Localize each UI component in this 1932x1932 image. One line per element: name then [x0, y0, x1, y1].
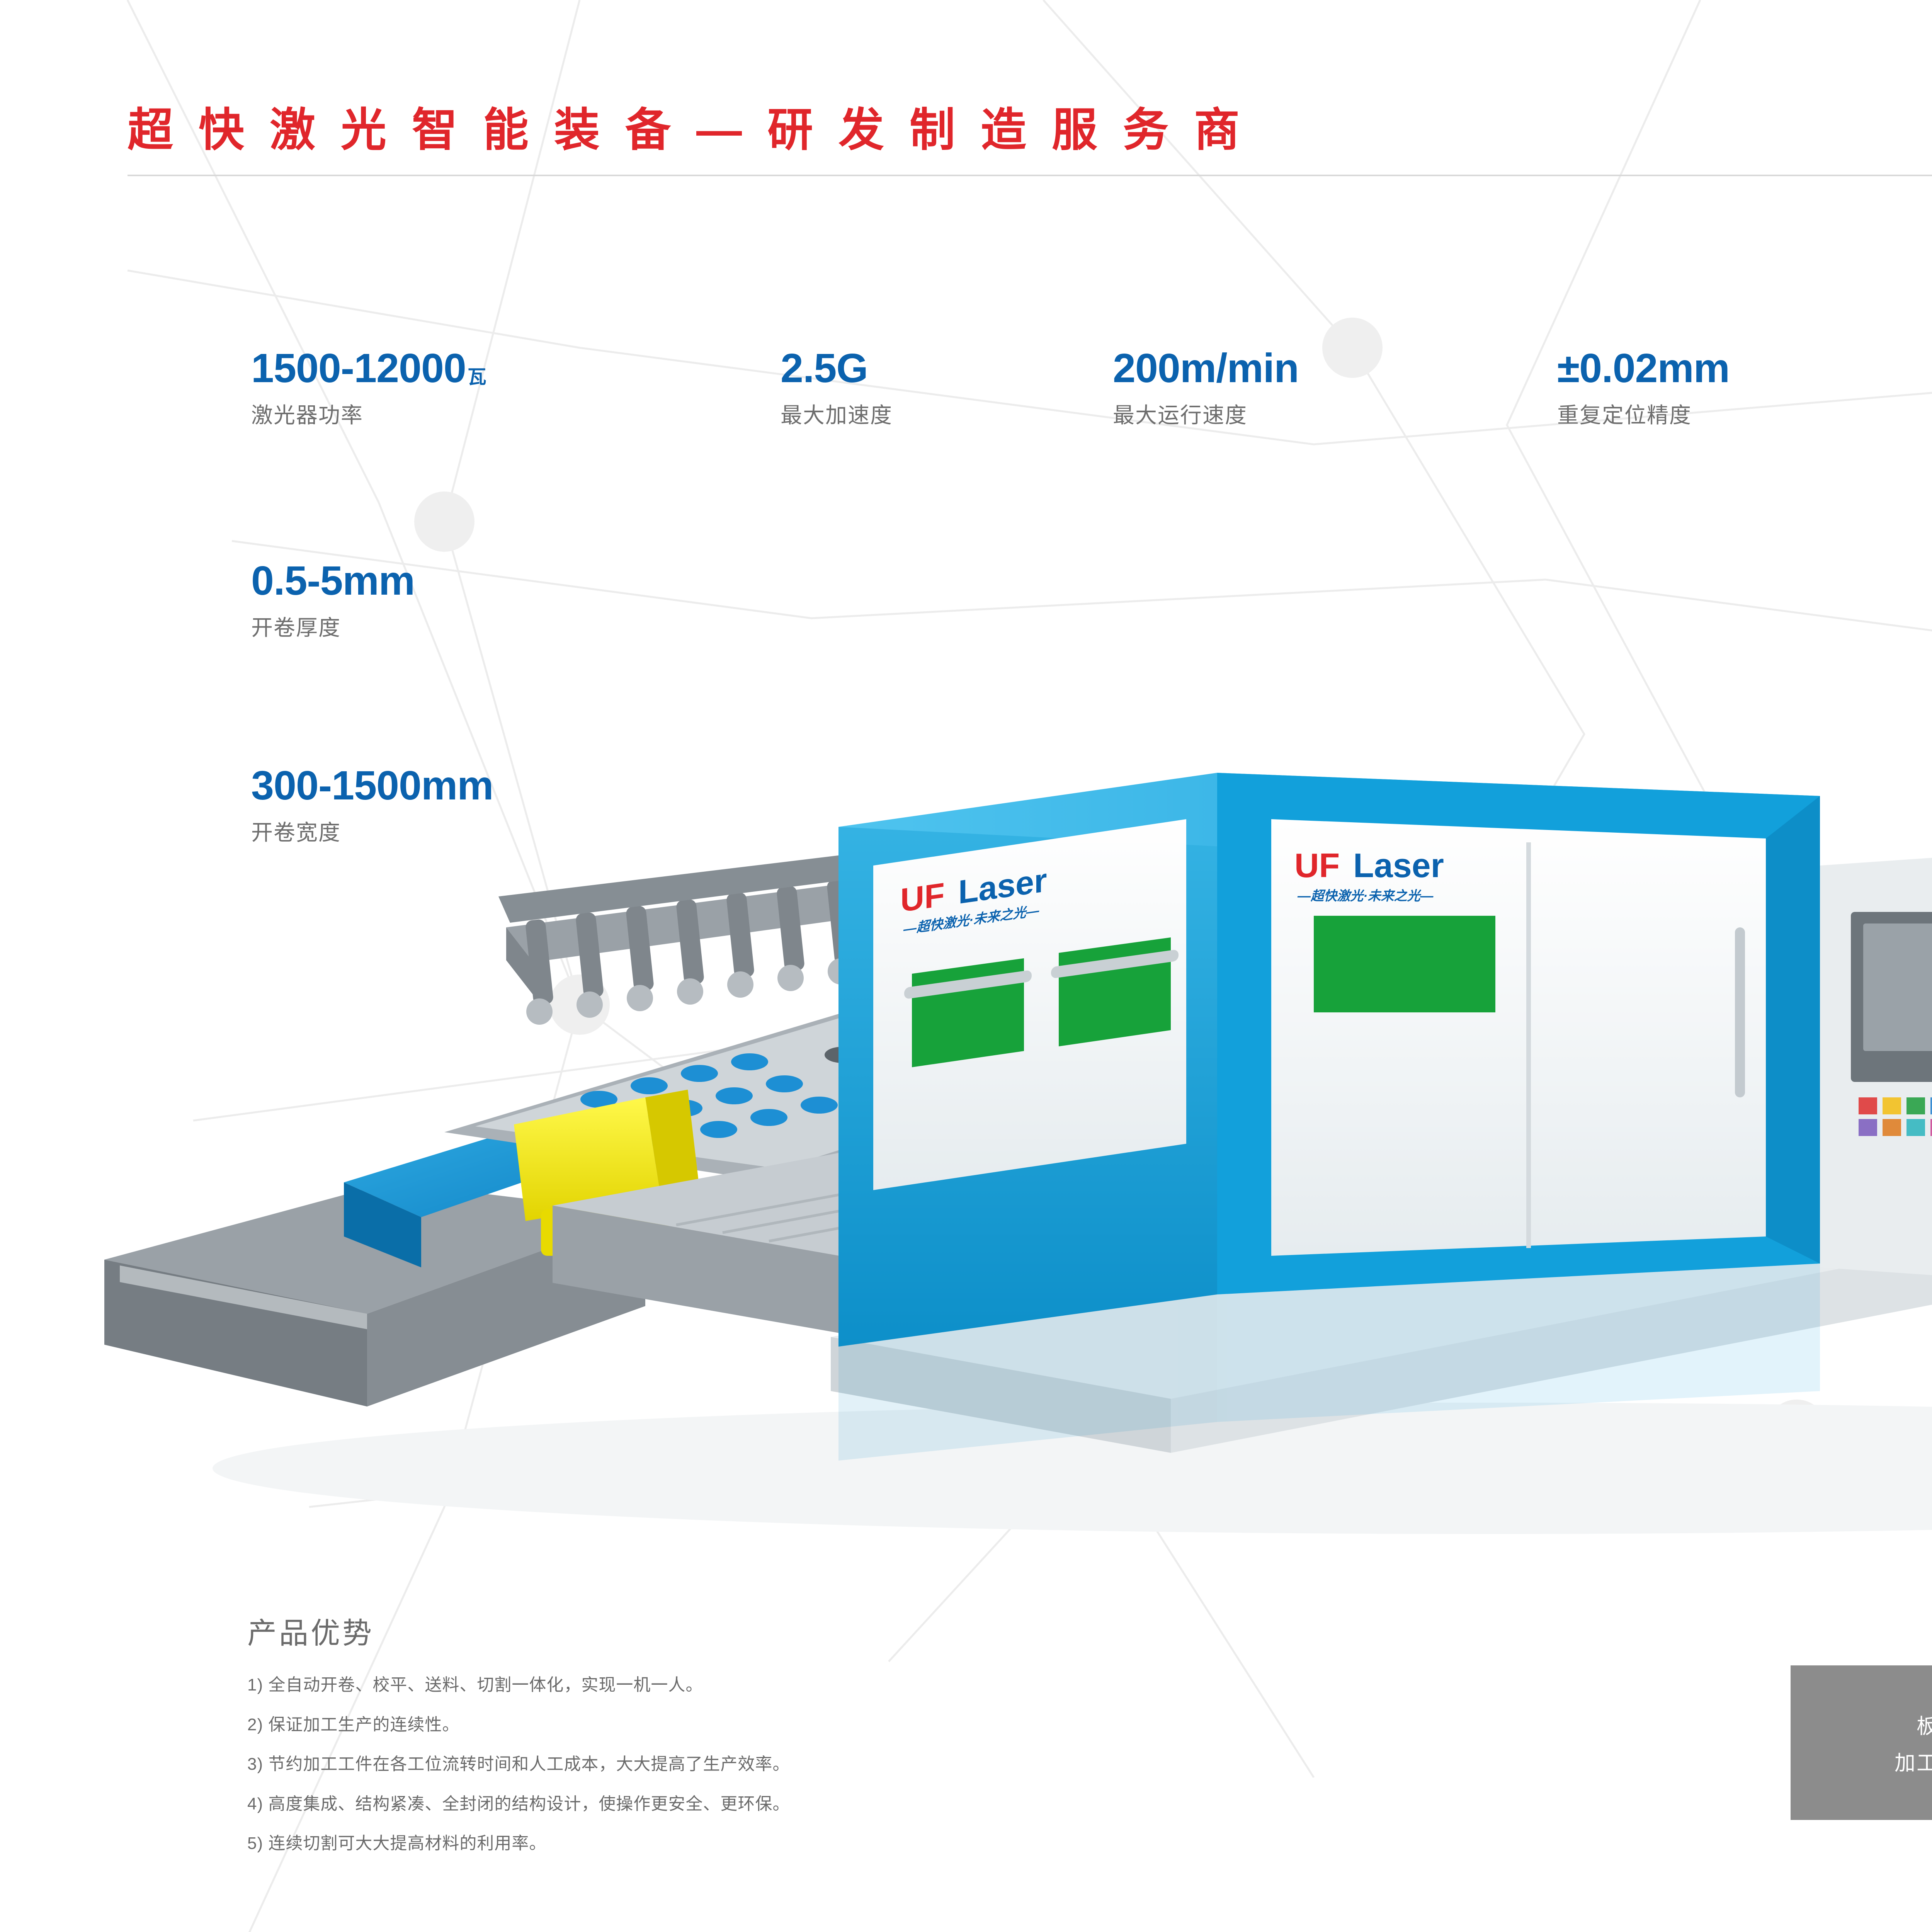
company-tagline: 超快激光智能装备—研发制造服务商	[128, 107, 1265, 153]
header-divider	[128, 175, 1932, 176]
spec-value: 1500-12000瓦	[251, 348, 486, 389]
table-title: 高速切割生产线	[1791, 1577, 1932, 1619]
sheet-size-table: 板材 加工范围 2米×1.2米 3米×1.5米 4米×2米	[1791, 1665, 1932, 1820]
spec-repeat-accuracy: ±0.02mm 重复定位精度	[1557, 348, 1730, 429]
spec-label: 激光器功率	[251, 398, 486, 429]
table-header-line1: 板材	[1917, 1709, 1932, 1740]
advantages-list: 1) 全自动开卷、校平、送料、切割一体化，实现一机一人。 2) 保证加工生产的连…	[247, 1675, 1445, 1854]
advantages-heading: 产品优势	[247, 1619, 1445, 1648]
spec-value: ±0.02mm	[1557, 348, 1730, 389]
spec-max-acceleration: 2.5G 最大加速度	[781, 348, 893, 429]
spec-laser-power: 1500-12000瓦 激光器功率	[251, 348, 486, 429]
spec-max-speed: 200m/min 最大运行速度	[1113, 348, 1299, 429]
spec-value: 200m/min	[1113, 348, 1299, 389]
spec-label: 最大运行速度	[1113, 398, 1299, 429]
door-handle	[1735, 927, 1745, 1097]
product-advantages-section: 产品优势 1) 全自动开卷、校平、送料、切割一体化，实现一机一人。 2) 保证加…	[247, 1619, 1445, 1874]
cutting-line-table-section: 高速切割生产线 板材 加工范围 2米×1.2米 3米×1.5米 4米×2米	[1791, 1577, 1932, 1820]
list-item: 1) 全自动开卷、校平、送料、切割一体化，实现一机一人。	[247, 1675, 1445, 1695]
spec-unit: 瓦	[468, 367, 486, 388]
list-item: 5) 连续切割可大大提高材料的利用率。	[247, 1834, 1445, 1854]
enclosure-decal-front: UF Laser —超快激光·未来之光—	[1294, 846, 1444, 903]
spec-label: 最大加速度	[781, 398, 893, 429]
spec-value: 300-1500mm	[251, 765, 493, 806]
list-item: 4) 高度集成、结构紧凑、全封闭的结构设计，使操作更安全、更环保。	[247, 1794, 1445, 1814]
svg-text:—超快激光·未来之光—: —超快激光·未来之光—	[1297, 889, 1434, 903]
spec-uncoil-width: 300-1500mm 开卷宽度	[251, 765, 493, 847]
spec-value: 0.5-5mm	[251, 560, 415, 601]
list-item: 3) 节约加工工件在各工位流转时间和人工成本，大大提高了生产效率。	[247, 1755, 1445, 1774]
svg-text:UF: UF	[1294, 846, 1340, 884]
spec-label: 开卷宽度	[251, 815, 493, 847]
table-header-line2: 加工范围	[1895, 1746, 1932, 1776]
page-header: 超快激光智能装备—研发制造服务商 UFLaser —超快激光·未来之光—	[0, 0, 1932, 182]
control-cabinet	[1820, 850, 1932, 1314]
machine-illustration: UF Laser —超快激光·未来之光— UF Laser —超快激光·未来之光…	[97, 580, 1932, 1584]
viewing-window-green-3	[1314, 916, 1495, 1012]
laser-enclosure: UF Laser —超快激光·未来之光— UF Laser —超快激光·未来之光…	[838, 773, 1820, 1347]
spec-label: 开卷厚度	[251, 611, 415, 642]
spec-uncoil-thickness: 0.5-5mm 开卷厚度	[251, 560, 415, 642]
spec-label: 重复定位精度	[1557, 398, 1730, 429]
spec-value: 2.5G	[781, 348, 893, 389]
table-header-cell: 板材 加工范围	[1791, 1665, 1932, 1820]
svg-text:Laser: Laser	[1353, 846, 1444, 884]
svg-text:UF: UF	[900, 876, 945, 919]
list-item: 2) 保证加工生产的连续性。	[247, 1715, 1445, 1735]
